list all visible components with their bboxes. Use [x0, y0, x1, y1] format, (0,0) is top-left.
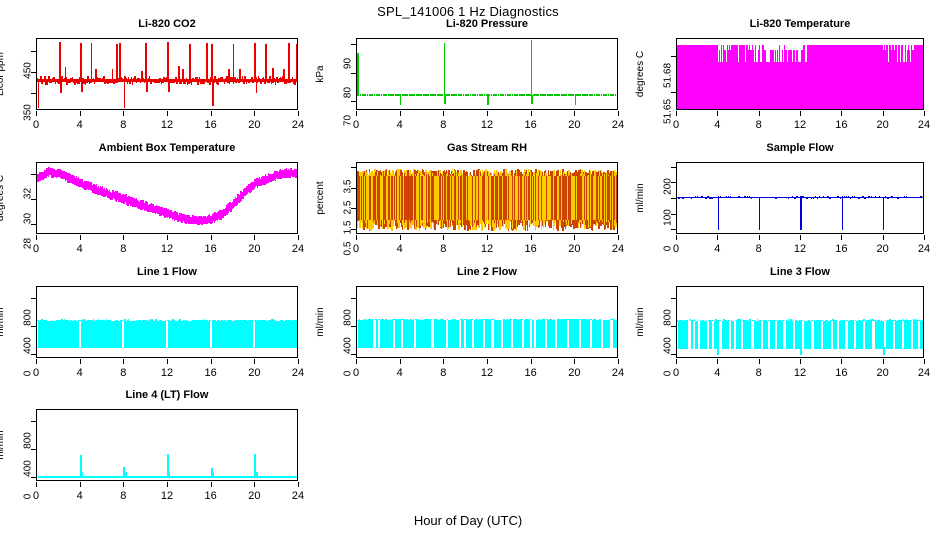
figure-title: SPL_141006 1 Hz Diagnostics	[0, 4, 936, 19]
signal-spike	[575, 95, 577, 105]
signal-gap	[831, 321, 833, 348]
signal-gap	[693, 321, 695, 348]
x-tick-label: 16	[835, 367, 847, 379]
signal-spike	[38, 81, 40, 108]
panel-8: Line 2 Flow0400800ml/min04812162024	[320, 266, 618, 384]
signal-gap	[821, 321, 823, 348]
signal-spike	[272, 68, 274, 81]
signal-spike	[753, 50, 754, 109]
signal-spike	[65, 67, 67, 81]
plot-box	[676, 162, 924, 234]
signal-spike	[212, 81, 214, 106]
signal-spike	[777, 50, 778, 109]
signal-spike	[898, 50, 899, 109]
x-tick	[800, 111, 801, 116]
x-tick-label: 12	[161, 243, 173, 255]
x-tick	[574, 359, 575, 364]
signal-spike	[145, 43, 147, 80]
signal-gap	[253, 321, 255, 348]
signal-gap	[911, 321, 913, 348]
x-tick	[356, 111, 357, 116]
x-tick	[883, 235, 884, 240]
signal-gap	[431, 320, 433, 348]
x-tick-label: 4	[397, 367, 403, 379]
x-tick-label: 12	[794, 119, 806, 131]
x-tick-label: 8	[756, 243, 762, 255]
signal-spike	[725, 50, 726, 109]
signal-spike	[812, 50, 813, 109]
signal-spike	[833, 50, 834, 109]
plot-box	[676, 286, 924, 358]
signal-spike	[44, 76, 46, 79]
signal-gap	[459, 320, 461, 348]
y-tick-label: 51.68	[663, 56, 674, 96]
x-tick	[167, 359, 168, 364]
x-tick-label: 24	[292, 367, 304, 379]
signal-spike	[296, 44, 297, 80]
signal-spike	[531, 95, 533, 104]
signal-spike	[902, 50, 903, 109]
panel-title: Gas Stream RH	[356, 142, 618, 154]
x-tick-label: 20	[248, 119, 260, 131]
signal-spike	[212, 472, 214, 478]
x-tick-label: 4	[397, 243, 403, 255]
x-tick	[676, 235, 677, 240]
signal-gap	[393, 320, 395, 348]
signal-gap	[802, 321, 804, 348]
x-tick-label: 16	[205, 367, 217, 379]
signal-spike	[87, 76, 89, 79]
signal-gap	[872, 321, 874, 348]
x-tick	[759, 359, 760, 364]
signal-spike	[717, 347, 719, 355]
panel-2: Li-820 Pressure708090kPa04812162024	[320, 18, 618, 136]
x-tick-label: 20	[568, 243, 580, 255]
x-tick	[531, 235, 532, 240]
signal-gap	[712, 321, 714, 348]
signal-spike	[288, 43, 290, 80]
signal-spike	[168, 472, 170, 478]
y-tick-label: 90	[343, 43, 354, 83]
signal-gap	[414, 320, 416, 348]
panel-title: Line 3 Flow	[676, 266, 924, 278]
x-tick-label: 16	[835, 243, 847, 255]
signal-spike	[400, 95, 402, 105]
x-tick	[487, 235, 488, 240]
signal-spike	[836, 50, 837, 109]
x-tick-label: 24	[918, 243, 930, 255]
signal-spike	[119, 43, 121, 80]
x-tick	[211, 111, 212, 116]
x-tick	[841, 235, 842, 240]
x-tick-label: 24	[918, 367, 930, 379]
x-tick-label: 0	[673, 243, 679, 255]
x-tick-label: 12	[794, 367, 806, 379]
signal-spike	[786, 50, 787, 109]
x-tick	[80, 235, 81, 240]
x-tick	[759, 111, 760, 116]
signal-spike	[816, 50, 817, 109]
x-tick-label: 12	[161, 367, 173, 379]
x-tick	[531, 111, 532, 116]
signal-spike	[809, 50, 810, 109]
signal-gap	[483, 320, 485, 348]
x-tick	[717, 235, 718, 240]
signal-spike	[800, 347, 802, 355]
x-tick	[676, 359, 677, 364]
signal-gap	[793, 321, 795, 348]
signal-spike	[917, 50, 918, 109]
signal-spike	[782, 50, 783, 109]
y-axis-label: ml/min	[0, 430, 6, 459]
signal-spike	[263, 77, 265, 80]
signal-spike	[883, 347, 885, 355]
x-tick	[123, 482, 124, 487]
y-axis-label: Licor ppm	[0, 52, 6, 96]
signal-spike	[694, 50, 695, 109]
signal-spike	[182, 69, 184, 81]
x-tick	[356, 359, 357, 364]
y-axis-label: ml/min	[315, 307, 326, 336]
signal-spike	[733, 50, 734, 109]
plot-box	[356, 286, 618, 358]
signal-spike	[814, 50, 815, 109]
signal-spike	[891, 50, 892, 109]
signal-spike	[714, 50, 715, 109]
x-tick	[211, 359, 212, 364]
signal-spike	[211, 44, 213, 80]
x-tick-label: 16	[525, 243, 537, 255]
plot-box	[36, 286, 298, 358]
panel-7: Line 1 Flow0400800ml/min04812162024	[0, 266, 298, 384]
signal-spike	[759, 197, 761, 230]
x-tick	[841, 111, 842, 116]
y-tick-label: 200	[663, 166, 674, 206]
signal-spike	[86, 79, 88, 82]
signal-gap	[837, 321, 839, 348]
panel-title: Sample Flow	[676, 142, 924, 154]
signal-spike	[196, 77, 198, 80]
signal-gap	[688, 321, 690, 348]
signal-spike	[800, 197, 802, 230]
x-tick	[36, 359, 37, 364]
signal-spike	[47, 81, 49, 84]
x-tick	[254, 111, 255, 116]
y-axis-label: ml/min	[635, 183, 646, 212]
x-tick-label: 0	[33, 367, 39, 379]
signal-gap	[610, 320, 612, 348]
signal-spike	[239, 69, 241, 80]
x-tick-label: 8	[120, 119, 126, 131]
signal-spike	[712, 50, 713, 109]
signal-spike	[919, 50, 920, 109]
x-tick-label: 0	[353, 119, 359, 131]
signal-spike	[758, 50, 759, 109]
signal-spike	[256, 472, 258, 478]
signal-spike	[801, 50, 802, 109]
y-axis-label: percent	[315, 181, 326, 214]
signal-spike	[852, 50, 853, 109]
signal-spike	[818, 50, 819, 109]
plot-box	[356, 162, 618, 234]
x-tick	[531, 359, 532, 364]
x-tick-label: 20	[568, 367, 580, 379]
x-tick-label: 0	[673, 119, 679, 131]
signal-spike	[682, 50, 683, 109]
x-tick	[800, 235, 801, 240]
signal-spike	[59, 42, 61, 80]
signal-spike	[184, 81, 186, 84]
x-tick-label: 4	[397, 119, 403, 131]
x-tick-label: 12	[161, 490, 173, 502]
x-tick-label: 12	[161, 119, 173, 131]
x-tick	[443, 111, 444, 116]
y-tick-label: 32	[23, 174, 34, 214]
signal-spike	[132, 82, 134, 85]
x-tick	[400, 235, 401, 240]
signal-gap	[741, 321, 743, 348]
y-tick-label: 3.5	[343, 167, 354, 207]
panel-6: Sample Flow0100200ml/min04812162024	[640, 142, 924, 260]
x-tick-label: 8	[756, 119, 762, 131]
signal-spike	[737, 45, 739, 62]
x-tick-label: 20	[877, 243, 889, 255]
signal-spike	[826, 50, 827, 109]
x-tick	[883, 111, 884, 116]
x-tick	[167, 111, 168, 116]
x-tick-label: 24	[292, 490, 304, 502]
signal-spike	[813, 197, 815, 198]
plot-area	[677, 287, 923, 357]
signal-gap	[719, 321, 721, 348]
x-tick	[618, 359, 619, 364]
x-tick	[841, 359, 842, 364]
x-tick-label: 0	[33, 490, 39, 502]
x-tick	[123, 111, 124, 116]
x-tick	[298, 359, 299, 364]
signal-spike	[81, 472, 83, 478]
x-tick-label: 20	[248, 367, 260, 379]
x-tick	[759, 235, 760, 240]
x-tick	[356, 235, 357, 240]
signal-gap	[698, 321, 700, 348]
x-tick-label: 4	[714, 243, 720, 255]
signal-spike	[48, 76, 50, 79]
y-tick-label: 800	[23, 421, 34, 461]
signal-gap	[729, 321, 731, 348]
y-axis-label: ml/min	[0, 307, 6, 336]
x-tick-label: 24	[612, 243, 624, 255]
signal-spike	[883, 50, 884, 109]
signal-spike	[871, 50, 872, 109]
x-tick	[676, 111, 677, 116]
signal-gap	[79, 321, 81, 348]
signal-spike	[191, 82, 193, 85]
x-tick-label: 4	[77, 119, 83, 131]
y-axis-label: ml/min	[635, 307, 646, 336]
signal-spike	[883, 197, 885, 230]
signal-gap	[555, 320, 557, 348]
signal-spike	[791, 50, 792, 109]
x-tick	[717, 111, 718, 116]
signal-spike	[228, 69, 230, 81]
signal-gap	[464, 320, 466, 348]
signal-spike	[129, 80, 131, 83]
signal-spike	[80, 43, 82, 80]
x-tick-label: 24	[612, 367, 624, 379]
x-tick	[443, 235, 444, 240]
signal-spike	[862, 50, 863, 109]
signal-spike	[866, 50, 867, 109]
signal-gap	[902, 321, 904, 348]
y-axis-label: degrees C	[635, 51, 646, 97]
panel-title: Line 1 Flow	[36, 266, 298, 278]
signal-gap	[122, 321, 124, 348]
y-tick-label: 800	[663, 298, 674, 338]
x-tick	[211, 482, 212, 487]
x-tick-label: 8	[440, 367, 446, 379]
signal-spike	[103, 76, 105, 79]
signal-gap	[783, 321, 785, 348]
x-tick-label: 12	[481, 367, 493, 379]
y-tick-label: 800	[343, 298, 354, 338]
x-tick-label: 0	[673, 367, 679, 379]
signal-spike	[773, 50, 774, 109]
signal-spike	[820, 50, 821, 109]
x-axis-label: Hour of Day (UTC)	[0, 513, 936, 528]
signal-spike	[178, 66, 180, 80]
x-tick	[254, 359, 255, 364]
signal-spike	[907, 50, 908, 109]
x-tick-label: 16	[205, 243, 217, 255]
signal-spike	[842, 50, 843, 109]
signal-spike	[268, 80, 270, 83]
signal-gap	[761, 321, 763, 348]
x-tick	[924, 235, 925, 240]
signal-spike	[168, 81, 170, 92]
signal-gap	[734, 321, 736, 348]
x-tick-label: 8	[440, 119, 446, 131]
signal-spike	[677, 50, 678, 109]
x-tick-label: 0	[353, 367, 359, 379]
signal-spike	[850, 197, 852, 198]
signal-spike	[254, 43, 256, 80]
plot-area	[357, 39, 617, 109]
signal-spike	[294, 82, 296, 85]
signal-gap	[166, 321, 168, 348]
signal-spike	[838, 50, 839, 109]
x-tick-label: 4	[714, 119, 720, 131]
signal-spike	[885, 50, 886, 109]
panel-title: Line 2 Flow	[356, 266, 618, 278]
signal-gap	[545, 320, 547, 348]
signal-spike	[886, 45, 888, 62]
x-tick	[36, 482, 37, 487]
signal-spike	[718, 197, 720, 230]
plot-area	[677, 39, 923, 109]
signal-spike	[265, 44, 267, 80]
plot-box	[36, 409, 298, 481]
signal-spike	[913, 50, 914, 109]
signal-gap	[707, 321, 709, 348]
x-tick	[298, 235, 299, 240]
signal-gap	[373, 320, 375, 348]
x-tick	[298, 482, 299, 487]
y-axis-label: degrees C	[0, 175, 6, 221]
x-tick	[443, 359, 444, 364]
signal-spike	[922, 50, 923, 109]
x-tick-label: 12	[481, 243, 493, 255]
signal-spike	[794, 197, 796, 198]
signal-spike	[719, 50, 720, 109]
signal-spike	[162, 80, 164, 83]
plot-box	[36, 38, 298, 110]
signal-gap	[601, 320, 603, 348]
signal-spike	[803, 45, 805, 62]
x-tick-label: 24	[612, 119, 624, 131]
signal-spike	[244, 76, 246, 79]
signal-spike	[124, 81, 126, 109]
signal-spike	[112, 69, 114, 81]
x-tick	[167, 235, 168, 240]
signal-gap	[811, 321, 813, 348]
x-tick-label: 12	[794, 243, 806, 255]
x-tick-label: 16	[205, 490, 217, 502]
x-tick	[80, 359, 81, 364]
signal-spike	[217, 81, 219, 84]
y-axis-label: kPa	[315, 65, 326, 82]
x-tick-label: 8	[756, 367, 762, 379]
x-tick-label: 20	[877, 119, 889, 131]
x-tick	[800, 359, 801, 364]
x-tick-label: 8	[120, 367, 126, 379]
signal-gap	[534, 320, 536, 348]
signal-spike	[233, 44, 235, 80]
x-tick-label: 8	[120, 243, 126, 255]
plot-box	[356, 38, 618, 110]
panel-title: Li-820 CO2	[36, 18, 298, 30]
panel-5: Gas Stream RH0.51.52.53.5percent04812162…	[320, 142, 618, 260]
signal-spike	[167, 42, 169, 81]
signal-spike	[197, 82, 199, 85]
signal-spike	[855, 50, 856, 109]
signal-gap	[210, 321, 212, 348]
panel-title: Li-820 Pressure	[356, 18, 618, 30]
x-tick	[298, 111, 299, 116]
x-tick	[924, 359, 925, 364]
signal-spike	[189, 44, 191, 80]
signal-spike	[206, 43, 208, 80]
plot-box	[36, 162, 298, 234]
signal-spike	[707, 50, 708, 109]
signal-spike	[95, 69, 97, 80]
x-tick-label: 4	[77, 243, 83, 255]
signal-spike	[131, 77, 133, 80]
signal-spike	[744, 50, 745, 109]
signal-spike	[40, 76, 42, 79]
x-tick	[254, 235, 255, 240]
x-tick-label: 16	[525, 119, 537, 131]
x-tick-label: 16	[205, 119, 217, 131]
panel-1: Li-820 CO2350450Licor ppm04812162024	[0, 18, 298, 136]
x-tick-label: 24	[292, 243, 304, 255]
x-tick-label: 8	[440, 243, 446, 255]
signal-gap	[472, 320, 474, 348]
signal-spike	[176, 81, 178, 84]
plot-area	[357, 287, 617, 357]
signal-spike	[214, 76, 216, 79]
x-tick	[400, 111, 401, 116]
